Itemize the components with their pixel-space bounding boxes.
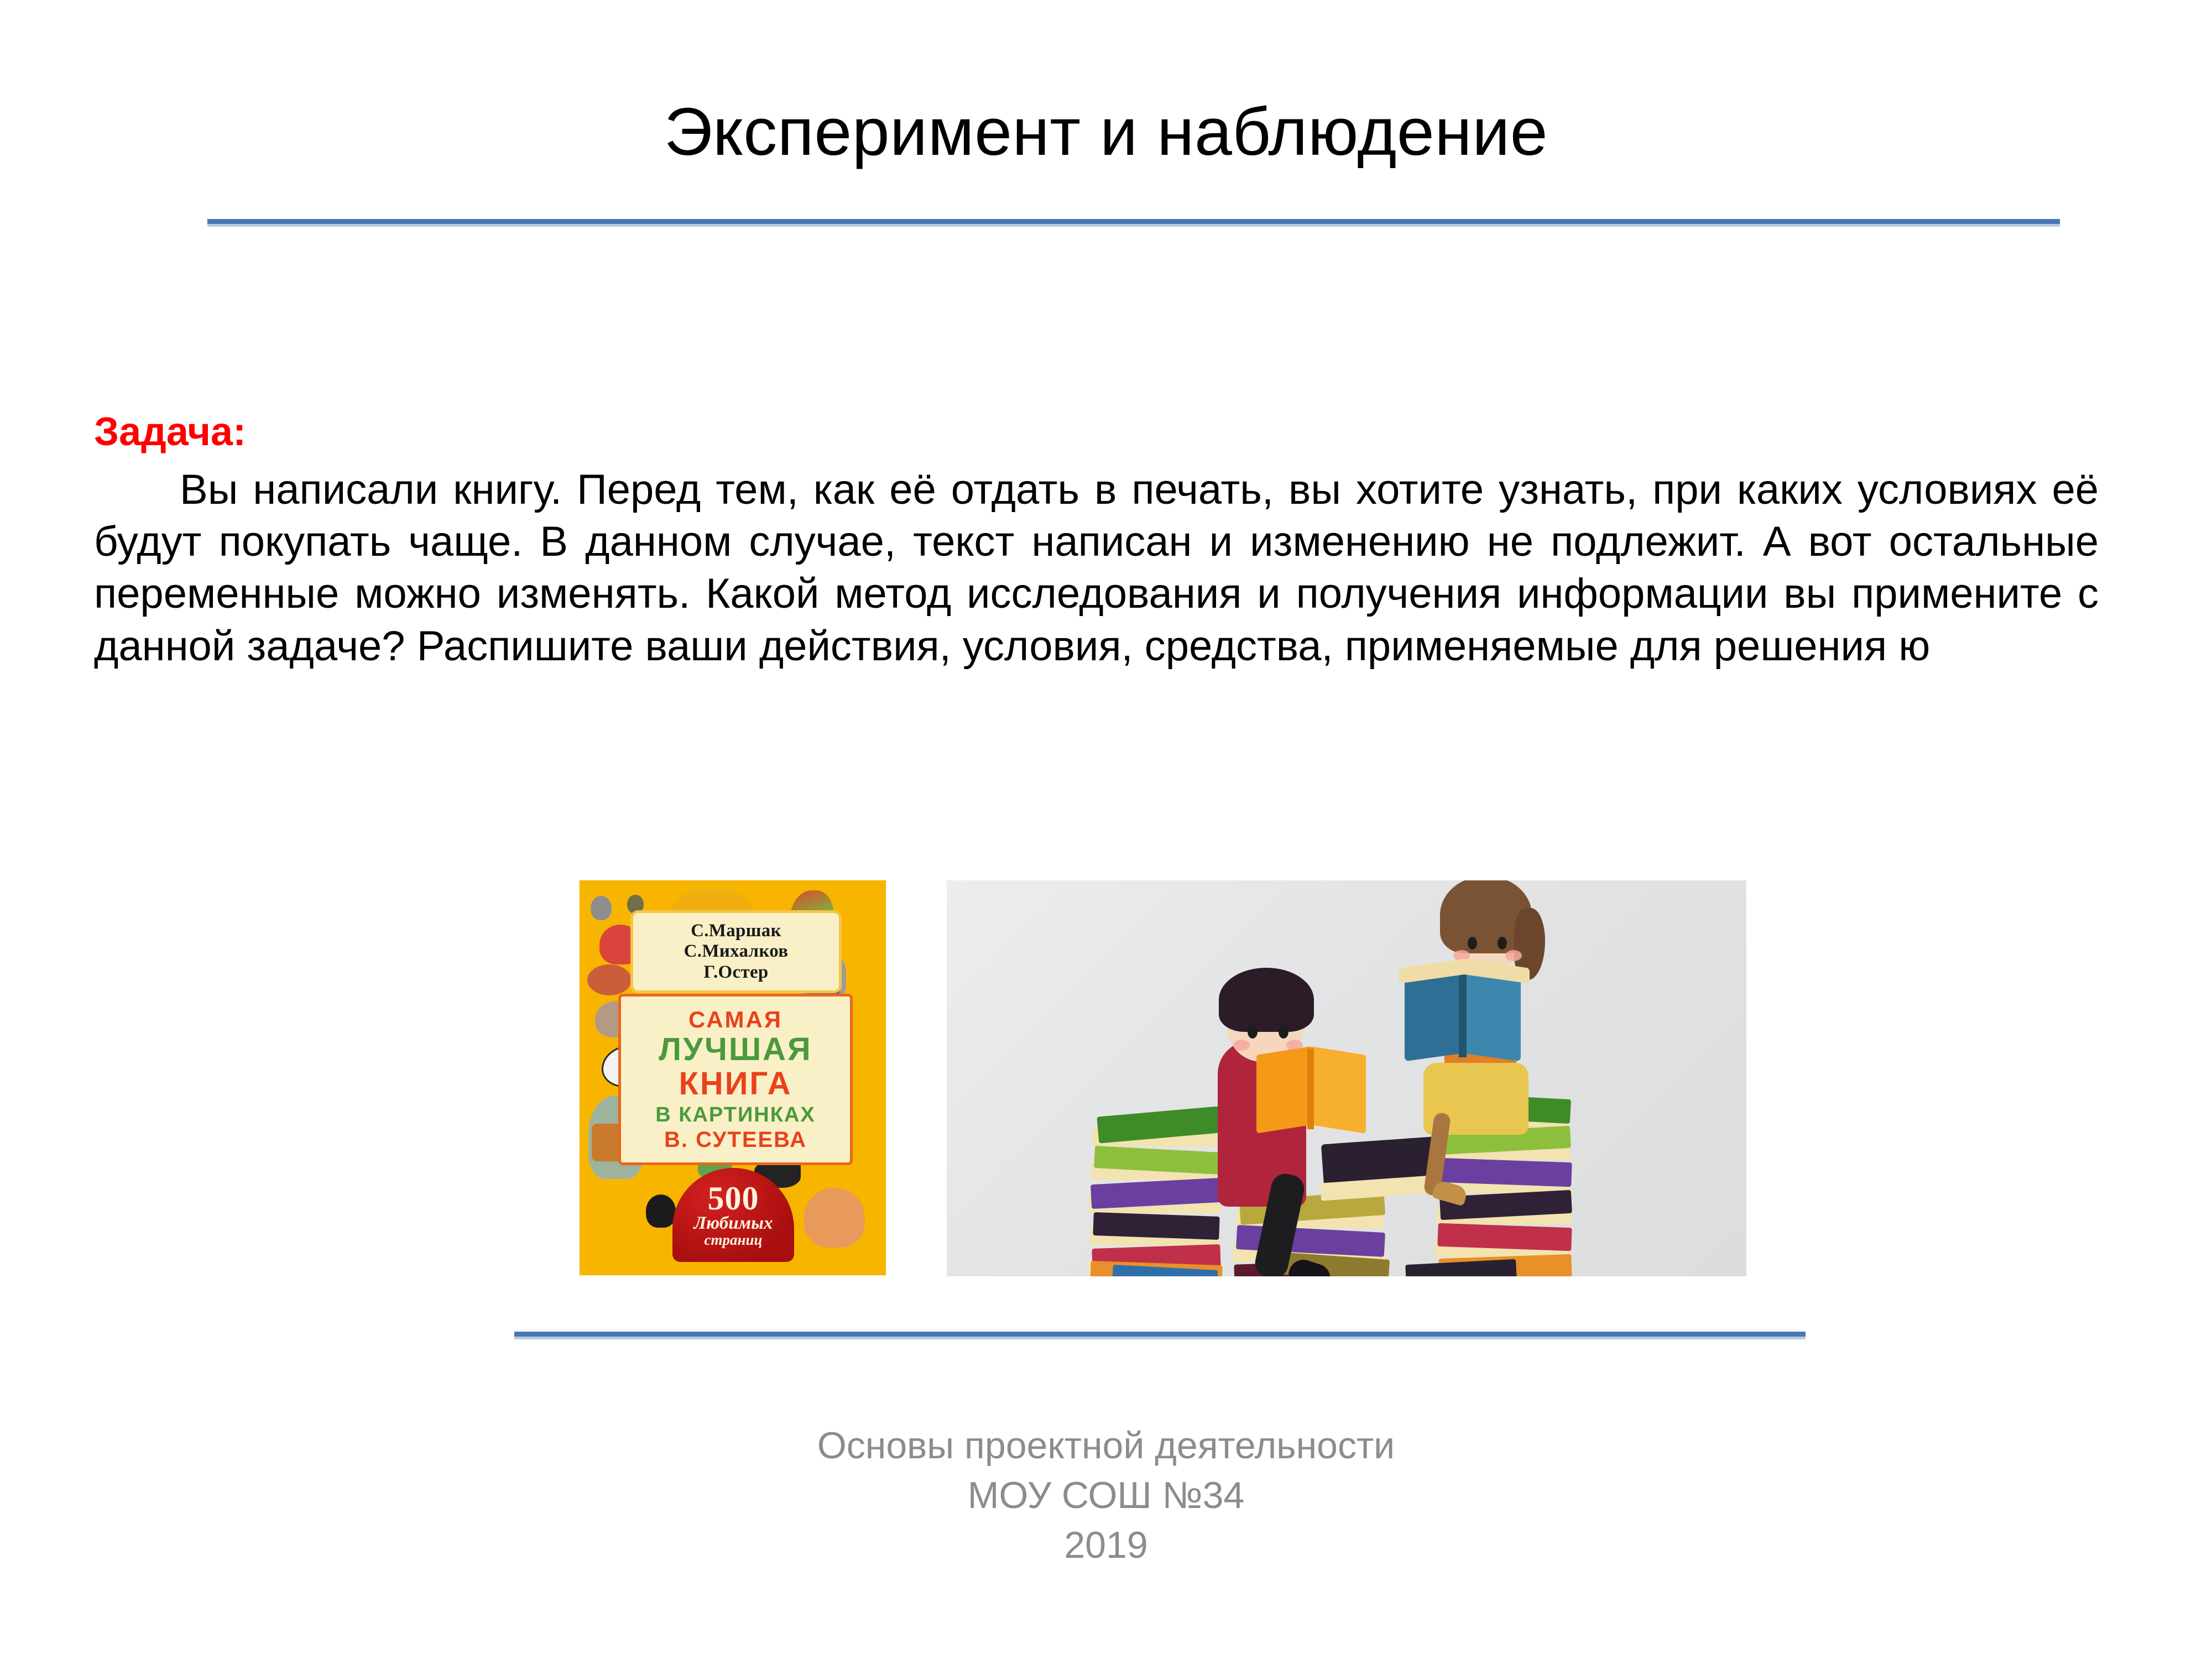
badge-number: 500 <box>708 1183 759 1214</box>
book-authors-box: С.Маршак С.Михалков Г.Остер <box>630 910 842 993</box>
book-author-1: С.Маршак <box>691 921 781 942</box>
title-divider-shadow <box>207 224 2060 227</box>
footer-line-year: 2019 <box>0 1521 2212 1571</box>
footer-divider <box>514 1332 1806 1337</box>
girl-cheek-right <box>1505 950 1522 961</box>
book-crimson-right <box>1437 1223 1572 1251</box>
book-title-line-1: САМАЯ <box>688 1008 782 1031</box>
book-title-line-4: В КАРТИНКАХ <box>655 1104 815 1125</box>
book-author-3: Г.Остер <box>703 962 768 983</box>
book-dark <box>1093 1212 1219 1240</box>
book-purple-right <box>1437 1158 1572 1187</box>
boy-eye-left <box>1248 1025 1258 1039</box>
book-title-box: САМАЯ ЛУЧШАЯ КНИГА В КАРТИНКАХ В. СУТЕЕВ… <box>618 994 853 1165</box>
kids-reading-image <box>947 880 1746 1276</box>
girl-eye-right <box>1498 937 1507 950</box>
book-stack-left <box>1088 1102 1232 1273</box>
boy-cheek-left <box>1233 1040 1250 1051</box>
footer-line-school: МОУ СОШ №34 <box>0 1471 2212 1521</box>
critter-kitten-icon <box>646 1194 676 1228</box>
girl-eye-left <box>1468 937 1477 950</box>
badge-line-1: Любимых <box>693 1214 773 1233</box>
book-title-line-2: ЛУЧШАЯ <box>659 1034 812 1066</box>
book-title-line-3: КНИГА <box>679 1068 792 1100</box>
slide-footer: Основы проектной деятельности МОУ СОШ №3… <box>0 1421 2212 1570</box>
book-title-line-5: В. СУТЕЕВА <box>664 1129 807 1151</box>
footer-divider-shadow <box>514 1337 1806 1339</box>
footer-line-course: Основы проектной деятельности <box>0 1421 2212 1471</box>
content-block: Задача: Вы написали книгу. Перед тем, ка… <box>94 412 2099 672</box>
boy-open-book <box>1256 1046 1367 1129</box>
task-paragraph: Вы написали книгу. Перед тем, как её отд… <box>94 464 2099 672</box>
critter-tabby-cat-icon <box>804 1188 865 1248</box>
badge-line-2: страниц <box>704 1233 762 1248</box>
boy-eye-right <box>1279 1025 1288 1039</box>
title-divider <box>207 219 2060 224</box>
task-label: Задача: <box>94 412 2099 452</box>
girl-open-book <box>1405 963 1521 1057</box>
boy-hair <box>1219 968 1314 1032</box>
book-cover-image: С.Маршак С.Михалков Г.Остер САМАЯ ЛУЧШАЯ… <box>580 880 886 1275</box>
book-author-2: С.Михалков <box>684 941 789 962</box>
slide-root: Эксперимент и наблюдение Задача: Вы напи… <box>0 0 2212 1659</box>
critter-bicycle-icon <box>587 964 632 995</box>
critter-bird-icon <box>591 896 612 920</box>
book-floor-2 <box>1405 1259 1517 1276</box>
page-title: Эксперимент и наблюдение <box>0 94 2212 170</box>
